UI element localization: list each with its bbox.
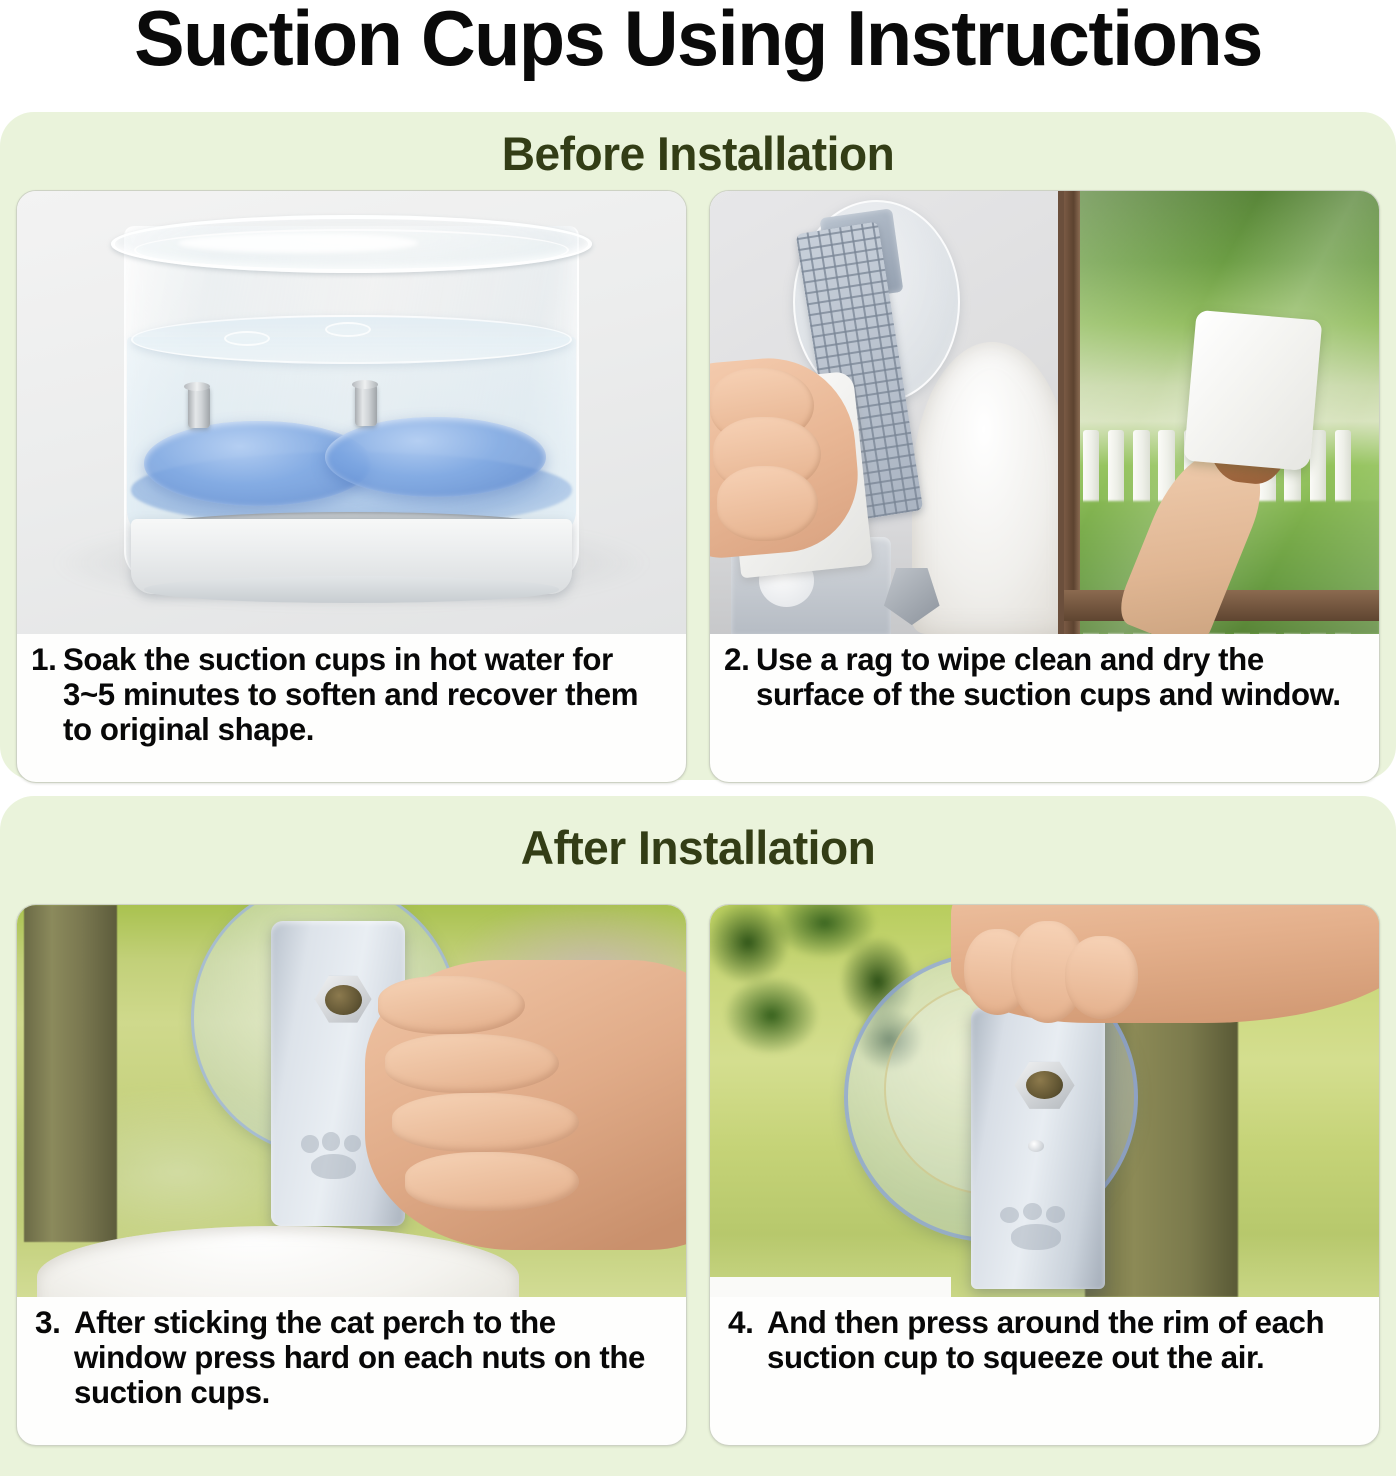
step-photo-4 bbox=[710, 905, 1379, 1297]
finger-1 bbox=[378, 976, 525, 1035]
section-heading-after: After Installation bbox=[14, 796, 1382, 874]
window-sill-edge bbox=[710, 1277, 951, 1297]
step-card-4: 4. And then press around the rim of each… bbox=[709, 904, 1380, 1446]
step-text-1: Soak the suction cups in hot water for 3… bbox=[63, 642, 667, 747]
metal-stud-cap-right bbox=[352, 380, 378, 389]
rim-highlight bbox=[178, 233, 419, 253]
step-number-2: 2. bbox=[724, 642, 756, 677]
step-caption-4: 4. And then press around the rim of each… bbox=[710, 1297, 1379, 1445]
step-caption-1: 1. Soak the suction cups in hot water fo… bbox=[17, 634, 686, 782]
photo-2-right-half bbox=[1064, 191, 1379, 634]
finger-3 bbox=[392, 1093, 579, 1152]
metal-stud-left bbox=[188, 386, 210, 428]
section-heading-before: Before Installation bbox=[14, 112, 1382, 180]
step-card-3: 3. After sticking the cat perch to the w… bbox=[16, 904, 687, 1446]
hex-nut-screw-core bbox=[325, 985, 362, 1014]
tree-trunk bbox=[24, 905, 118, 1242]
section-before-installation: Before Installation bbox=[0, 112, 1396, 780]
base-bottom-edge bbox=[144, 576, 559, 603]
step-number-1: 1. bbox=[31, 642, 63, 677]
paw-print-emboss bbox=[998, 1203, 1085, 1254]
step-text-2: Use a rag to wipe clean and dry the surf… bbox=[756, 642, 1360, 712]
hex-nut-screw-core bbox=[1026, 1071, 1063, 1099]
step-caption-2: 2. Use a rag to wipe clean and dry the s… bbox=[710, 634, 1379, 782]
finger-3 bbox=[1065, 936, 1139, 1018]
step-text-3: After sticking the cat perch to the wind… bbox=[74, 1305, 668, 1410]
step-caption-3: 3. After sticking the cat perch to the w… bbox=[17, 1297, 686, 1445]
step-text-4: And then press around the rim of each su… bbox=[767, 1305, 1361, 1375]
section-after-installation: After Installation bbox=[0, 796, 1396, 1476]
step-card-1: 1. Soak the suction cups in hot water fo… bbox=[16, 190, 687, 783]
card-row-after: 3. After sticking the cat perch to the w… bbox=[16, 904, 1380, 1446]
water-ripple-mark-a bbox=[224, 331, 270, 346]
white-cloth-right bbox=[1184, 310, 1323, 471]
photo-2-left-half bbox=[710, 191, 1058, 634]
blue-suction-cup-right bbox=[325, 417, 546, 497]
card-row-before: 1. Soak the suction cups in hot water fo… bbox=[16, 190, 1380, 783]
step-photo-2 bbox=[710, 191, 1379, 634]
metal-stud-right bbox=[355, 384, 377, 426]
step-number-4: 4. bbox=[728, 1305, 767, 1340]
window-frame-vertical bbox=[1064, 191, 1080, 634]
step-number-3: 3. bbox=[35, 1305, 74, 1340]
page-title: Suction Cups Using Instructions bbox=[21, 0, 1375, 80]
finger-2 bbox=[385, 1034, 559, 1093]
step-card-2: 2. Use a rag to wipe clean and dry the s… bbox=[709, 190, 1380, 783]
finger-3 bbox=[717, 466, 818, 541]
infographic-page: Suction Cups Using Instructions Before I… bbox=[0, 0, 1396, 1476]
step-photo-1 bbox=[17, 191, 686, 634]
finger-4 bbox=[405, 1152, 579, 1211]
water-ripple-mark-b bbox=[325, 322, 371, 337]
step-photo-3 bbox=[17, 905, 686, 1297]
